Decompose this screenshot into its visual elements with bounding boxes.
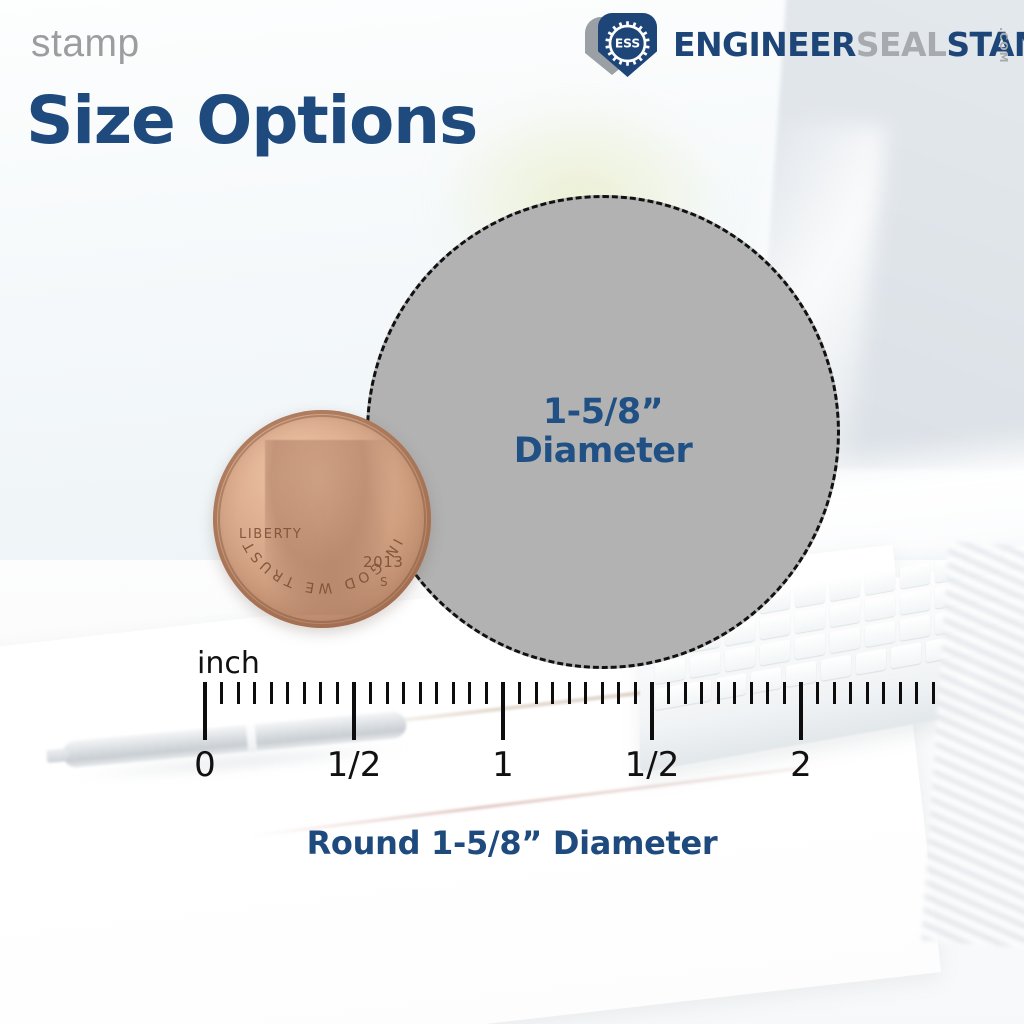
wordmark-stamps: STAMPS (946, 25, 1024, 64)
ruler-minor-tick (882, 682, 885, 704)
ruler-major-label: 1/2 (625, 745, 680, 785)
inch-ruler: inch 01/211/22 (0, 646, 1024, 816)
ruler-minor-tick (849, 682, 852, 704)
ruler-minor-tick (750, 682, 753, 704)
ruler-minor-tick (634, 682, 637, 704)
ruler-minor-tick (419, 682, 422, 704)
ruler-minor-tick (584, 682, 587, 704)
ruler-minor-tick (932, 682, 935, 704)
ruler-minor-tick (286, 682, 289, 704)
coin-year-text: 2013 (363, 553, 404, 571)
ruler-major-tick (799, 682, 803, 740)
coin-engraving: IN GOD WE TRUST LIBERTY 2013 S (213, 410, 431, 628)
ruler-major-tick (352, 682, 356, 740)
ruler-unit-label: inch (197, 646, 260, 681)
wordmark-dotcom: .COM (997, 27, 1010, 64)
brand-logo[interactable]: ESS ENGINEERSEALSTAMPS .COM (585, 11, 1017, 77)
ruler-major-label: 1/2 (327, 745, 382, 785)
ruler-minor-tick (617, 682, 620, 704)
stamp-dimension-label: 1-5/8” (543, 393, 663, 432)
ruler-major-tick (501, 682, 505, 740)
ruler-minor-tick (551, 682, 554, 704)
coin-mint-mark-text: S (380, 575, 388, 589)
brand-wordmark: ENGINEERSEALSTAMPS (673, 25, 1024, 64)
ruler-minor-tick (667, 682, 670, 704)
ruler-minor-tick (402, 682, 405, 704)
ruler-minor-tick (783, 682, 786, 704)
ruler-minor-tick (253, 682, 256, 704)
reference-penny-coin: IN GOD WE TRUST LIBERTY 2013 S (213, 410, 431, 628)
stamp-size-preview-circle: 1-5/8” Diameter (366, 195, 840, 669)
size-caption: Round 1-5/8” Diameter (0, 824, 1024, 862)
ruler-minor-tick (518, 682, 521, 704)
ruler-minor-tick (270, 682, 273, 704)
ruler-minor-tick (336, 682, 339, 704)
ruler-major-tick (650, 682, 654, 740)
ruler-minor-tick (700, 682, 703, 704)
ruler-minor-tick (303, 682, 306, 704)
stamp-size-options-graphic: stamp Size Options ESS ENGINEERSEALSTAMP… (0, 0, 1024, 1024)
ruler-minor-tick (833, 682, 836, 704)
ruler-minor-tick (435, 682, 438, 704)
ruler-minor-tick (568, 682, 571, 704)
ruler-major-label: 1 (492, 745, 514, 785)
ruler-minor-tick (237, 682, 240, 704)
ruler-major-tick (203, 682, 207, 740)
ruler-minor-tick (535, 682, 538, 704)
gear-icon: ESS (601, 17, 654, 70)
ruler-minor-tick (386, 682, 389, 704)
page-title: Size Options (26, 82, 477, 159)
wordmark-seal: SEAL (856, 25, 946, 64)
ruler-minor-tick (766, 682, 769, 704)
ess-badge-text: ESS (615, 37, 640, 51)
ruler-minor-tick (816, 682, 819, 704)
ruler-minor-tick (452, 682, 455, 704)
ruler-minor-tick (485, 682, 488, 704)
ruler-minor-tick (369, 682, 372, 704)
ruler-minor-tick (899, 682, 902, 704)
ruler-minor-tick (468, 682, 471, 704)
ruler-minor-tick (717, 682, 720, 704)
ruler-minor-tick (220, 682, 223, 704)
eyebrow-label: stamp (31, 22, 140, 66)
stamp-dimension-unit-label: Diameter (514, 432, 693, 471)
ruler-major-label: 0 (194, 745, 216, 785)
ruler-minor-tick (915, 682, 918, 704)
ruler-minor-tick (601, 682, 604, 704)
coin-liberty-text: LIBERTY (239, 527, 302, 542)
ruler-minor-tick (866, 682, 869, 704)
ruler-major-label: 2 (790, 745, 812, 785)
ruler-minor-tick (319, 682, 322, 704)
ruler-minor-tick (733, 682, 736, 704)
wordmark-engineer: ENGINEER (673, 25, 856, 64)
ruler-minor-tick (684, 682, 687, 704)
